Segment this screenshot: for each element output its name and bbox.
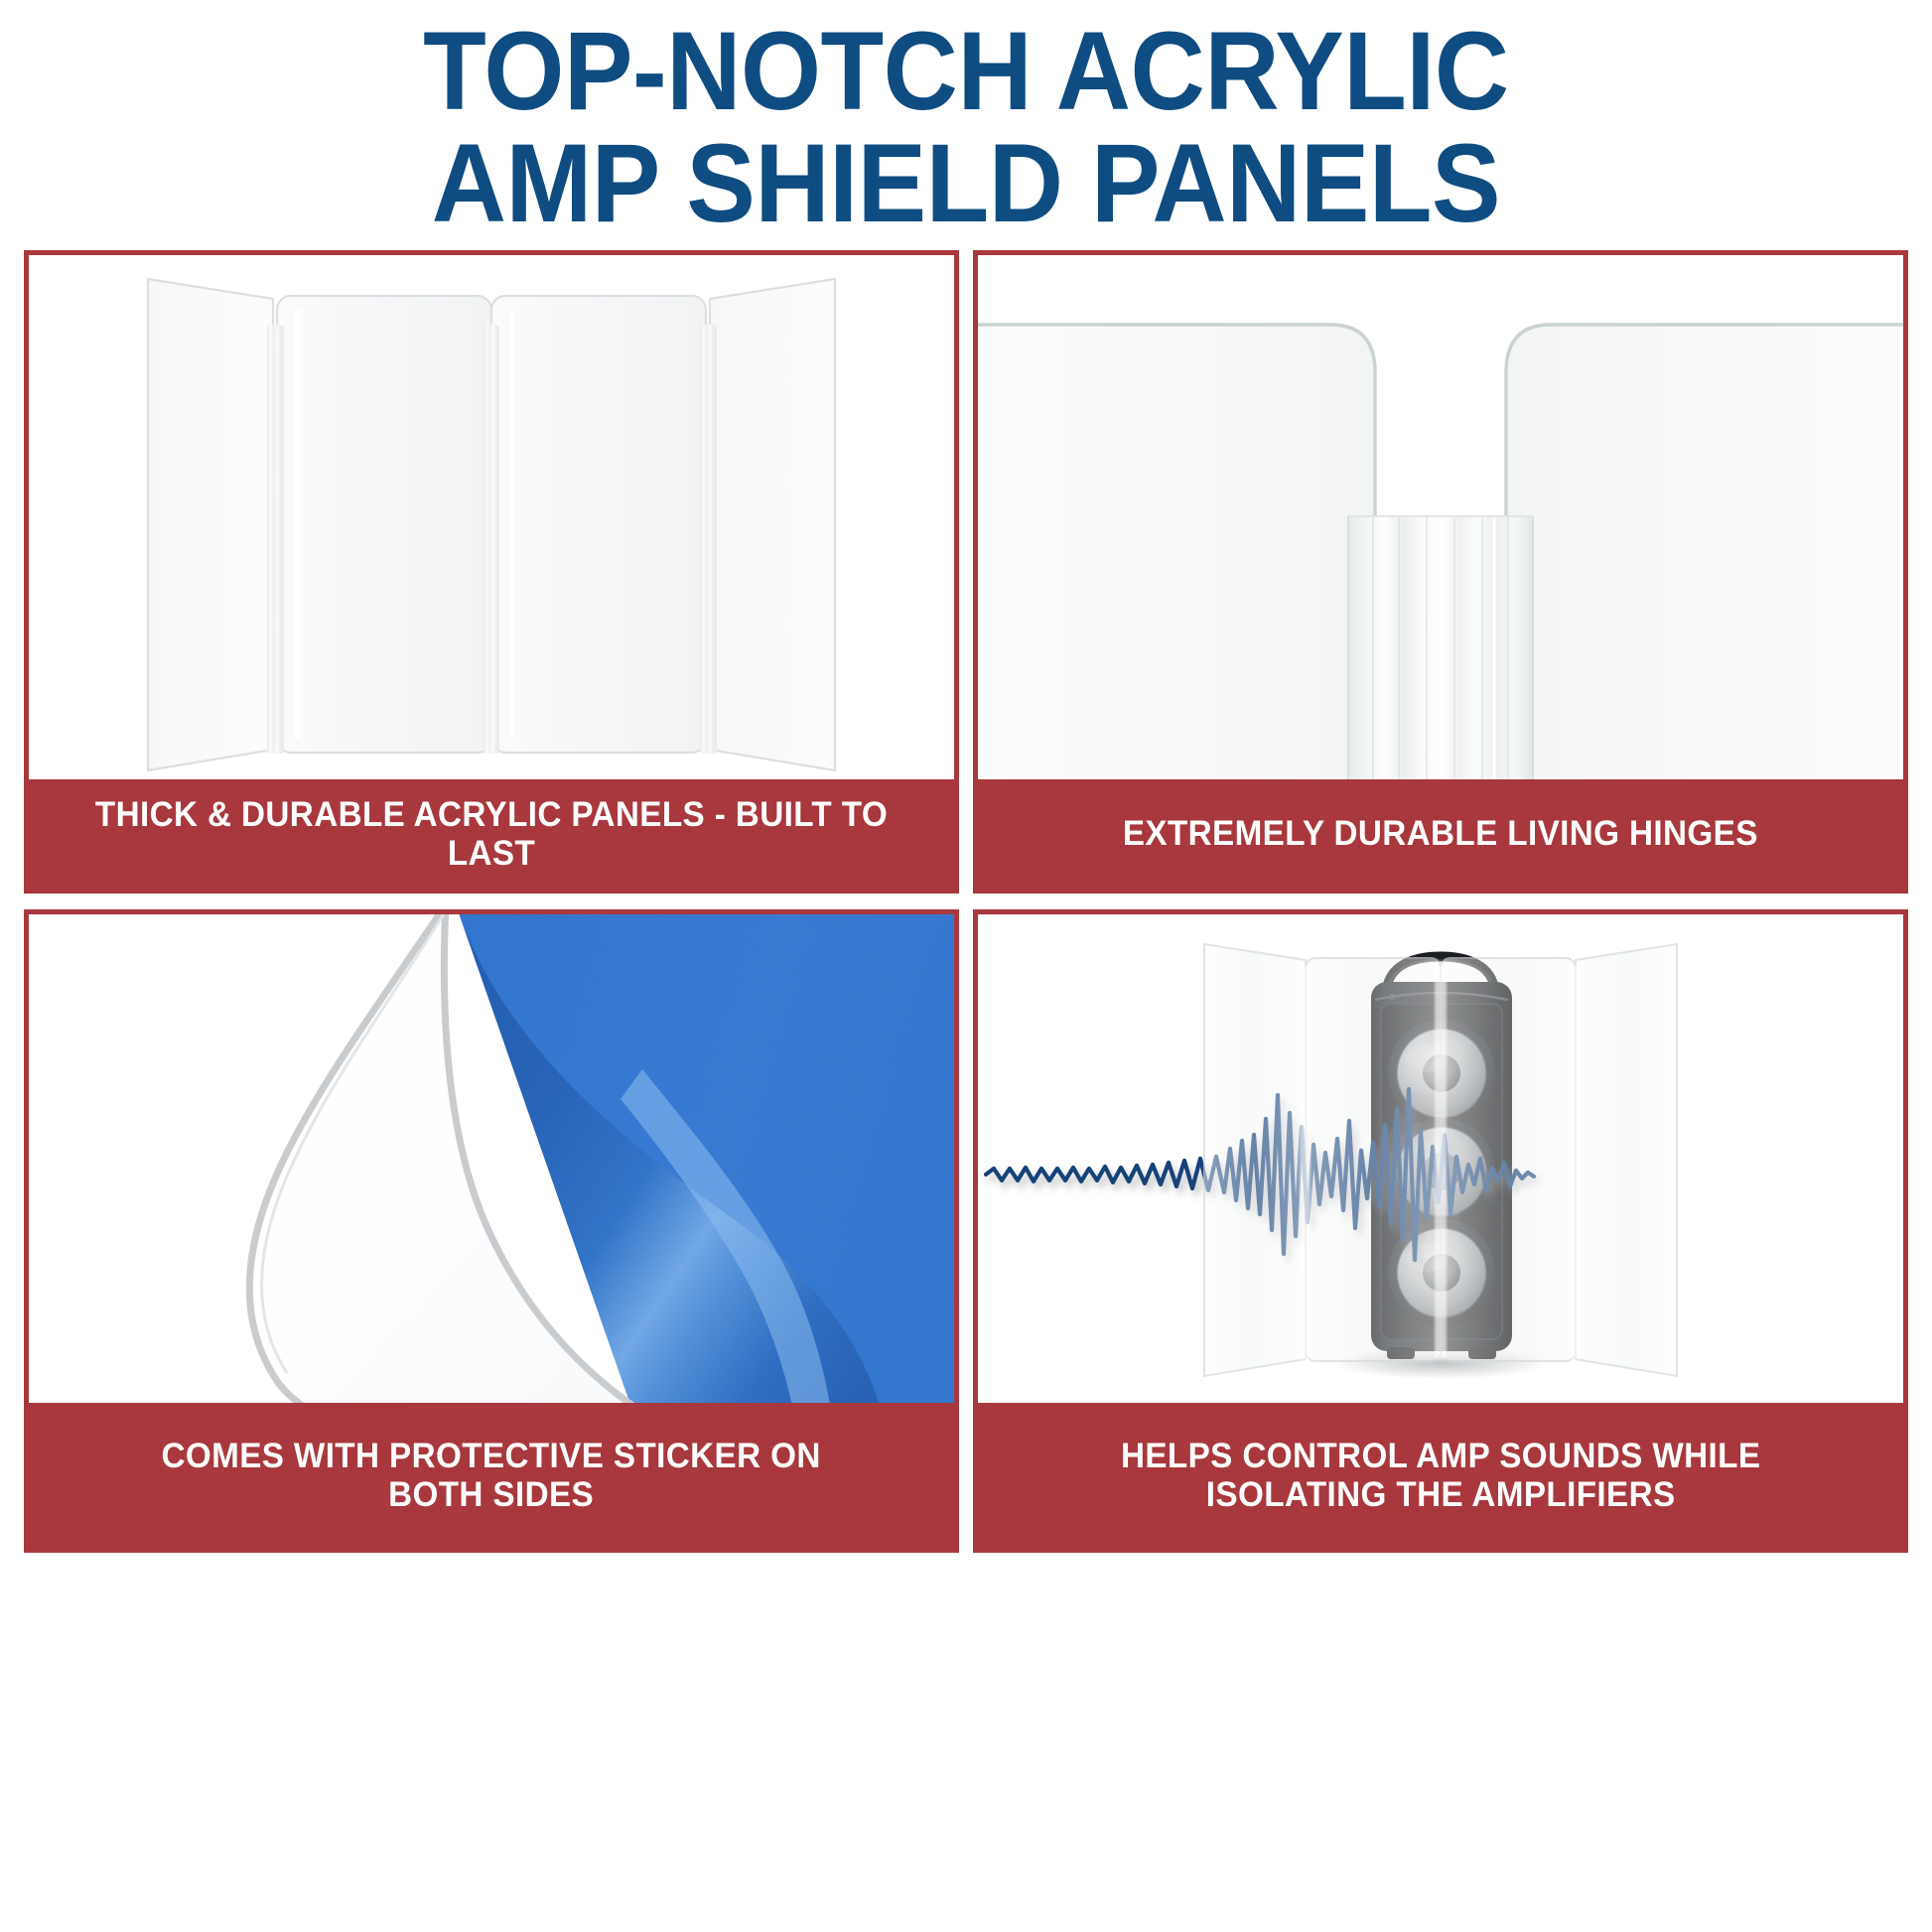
acrylic-panels-illustration xyxy=(29,255,954,779)
caption-living-hinges: EXTREMELY DURABLE LIVING HINGES xyxy=(978,779,1903,889)
caption-acrylic-panels: THICK & DURABLE ACRYLIC PANELS - BUILT T… xyxy=(29,779,954,889)
speaker-behind-shield-icon xyxy=(978,914,1903,1403)
feature-card-sound-isolation: HELPS CONTROL AMP SOUNDS WHILE ISOLATING… xyxy=(973,909,1908,1553)
feature-card-protective-sticker: COMES WITH PROTECTIVE STICKER ON BOTH SI… xyxy=(24,909,959,1553)
page-title: TOP-NOTCH ACRYLIC AMP SHIELD PANELS xyxy=(423,15,1508,239)
caption-sound-isolation: HELPS CONTROL AMP SOUNDS WHILE ISOLATING… xyxy=(978,1403,1903,1548)
living-hinge-illustration xyxy=(978,255,1903,779)
header: TOP-NOTCH ACRYLIC AMP SHIELD PANELS xyxy=(0,0,1932,250)
feature-card-living-hinges: EXTREMELY DURABLE LIVING HINGES xyxy=(973,250,1908,894)
sound-isolation-illustration xyxy=(978,914,1903,1403)
living-hinge-icon xyxy=(978,255,1903,779)
four-panel-shield-icon xyxy=(29,255,954,779)
caption-protective-sticker: COMES WITH PROTECTIVE STICKER ON BOTH SI… xyxy=(29,1403,954,1548)
feature-card-acrylic-panels: THICK & DURABLE ACRYLIC PANELS - BUILT T… xyxy=(24,250,959,894)
protective-sticker-illustration xyxy=(29,914,954,1403)
peeling-film-icon xyxy=(29,914,954,1403)
feature-grid: THICK & DURABLE ACRYLIC PANELS - BUILT T… xyxy=(24,250,1908,1886)
